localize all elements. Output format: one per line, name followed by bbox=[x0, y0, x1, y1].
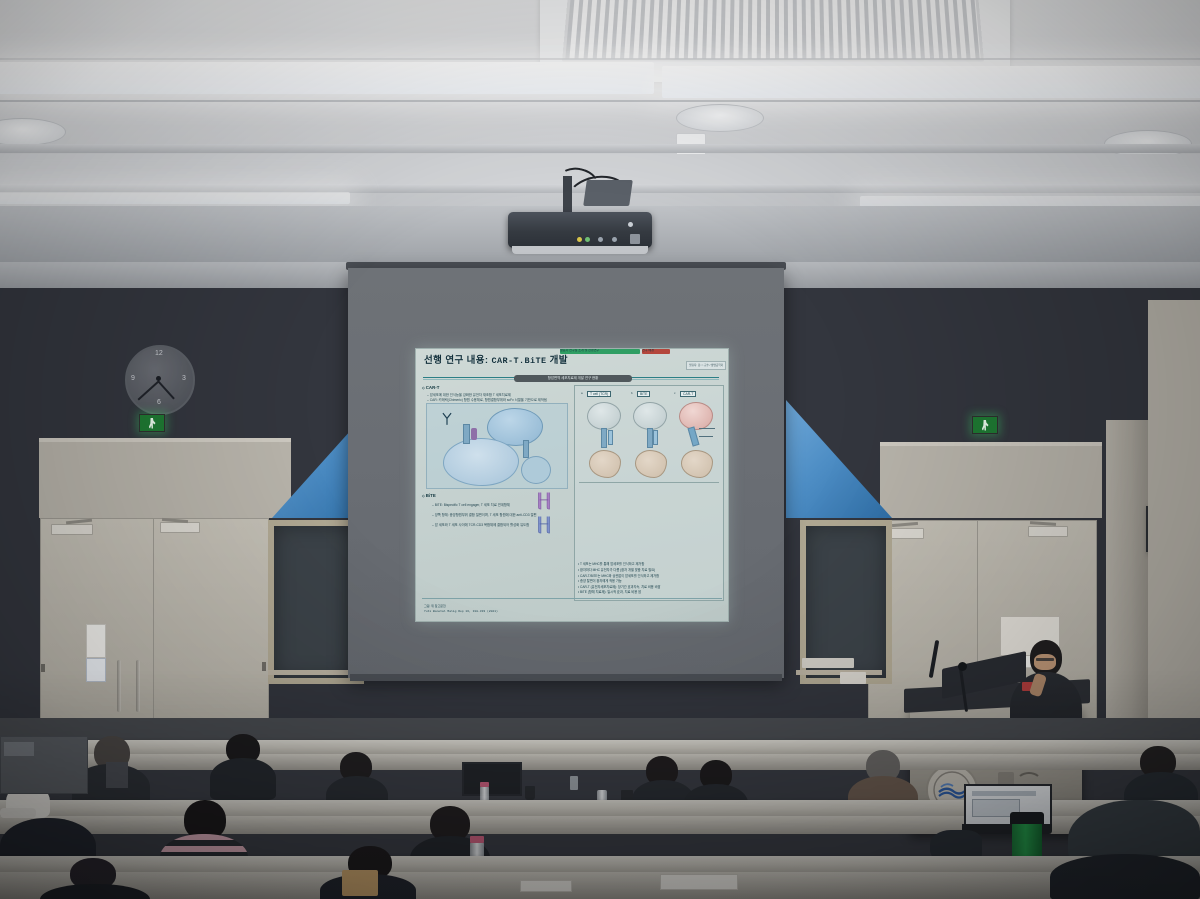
clock-mark-9: 9 bbox=[131, 375, 135, 382]
door-hinge bbox=[262, 662, 266, 671]
panel-label-tcell: T cell (TCR) bbox=[587, 391, 611, 397]
slide-bullet: T 세포는 MHC를 통해 암세포를 인식하고 제거함 bbox=[578, 562, 720, 566]
clock-center bbox=[156, 376, 161, 381]
lanyard bbox=[106, 762, 128, 788]
clock-minute-hand bbox=[138, 380, 160, 400]
desk-front-2 bbox=[0, 872, 1200, 899]
receptor-icon bbox=[463, 424, 470, 444]
projector-indicator-icon bbox=[612, 237, 617, 242]
chalk-box bbox=[802, 658, 854, 668]
panel-cart-diagram bbox=[675, 402, 719, 478]
bite-linker-icon bbox=[653, 430, 658, 445]
seating-riser bbox=[0, 718, 1200, 740]
shoulders bbox=[1050, 854, 1200, 899]
panel-label-bite: BiTE bbox=[637, 391, 650, 397]
slide-right-column: T cell (TCR) BiTE CAR-T a b c bbox=[574, 385, 724, 601]
downlight-left bbox=[0, 118, 66, 146]
laptop-screen bbox=[462, 762, 522, 796]
callout-line bbox=[699, 428, 715, 429]
panel-tcell-diagram bbox=[583, 402, 625, 478]
door-closer bbox=[1028, 526, 1068, 537]
slide-bullet: 종양 탈변이 환자에게 적용 가능 bbox=[578, 579, 720, 583]
slide-center-pill: 항암면역 세포치료제 개발 연구 현황 bbox=[514, 375, 632, 382]
slide-section-car-t: ◇ CAR-T bbox=[422, 385, 570, 391]
tumor-cell-icon bbox=[589, 450, 621, 478]
screen-weight-bar bbox=[350, 674, 782, 681]
ceiling-seam bbox=[0, 100, 1200, 102]
car-t-mechanism-diagram bbox=[426, 403, 568, 489]
projector-base bbox=[512, 246, 648, 254]
slide-title-suffix: 개발 bbox=[550, 355, 568, 366]
door-notice-sheet bbox=[86, 624, 106, 658]
strip-light-right bbox=[662, 66, 1200, 98]
microphone-head-icon bbox=[958, 662, 967, 671]
panel-marker-a: a bbox=[581, 392, 583, 396]
slide-title-latin: CAR-T.BiTE bbox=[492, 356, 547, 366]
slide-right-bullets: T 세포는 MHC를 통해 암세포를 인식하고 제거함 환자마다 MHC 유전자… bbox=[578, 562, 720, 596]
laptop-ui-bar bbox=[972, 791, 1036, 796]
antibody-icon bbox=[441, 412, 453, 426]
t-cell-icon bbox=[633, 402, 667, 430]
slide-bullet: CAR-T/BiTE는 MHC와 상관없이 암세포를 인식하고 제거함 bbox=[578, 574, 720, 578]
slide-section-bite-label: BiTE bbox=[426, 493, 436, 498]
slide-footer-rule bbox=[422, 598, 722, 599]
eraser bbox=[840, 672, 866, 684]
desk-item bbox=[342, 870, 378, 896]
lecture-hall-photo: 12 3 6 9 bbox=[0, 0, 1200, 899]
wall-clock: 12 3 6 9 bbox=[125, 345, 195, 415]
clock-hour-hand bbox=[157, 380, 175, 399]
desk-item bbox=[570, 776, 578, 790]
projector-mount bbox=[563, 176, 572, 212]
slide-left-column: ◇ CAR-T 암세포에 대한 인식능을 강화한 유전자 재조합 T 세포치료제… bbox=[422, 385, 570, 599]
ceiling-projector[interactable] bbox=[508, 212, 652, 248]
right-chalk-tray bbox=[796, 670, 882, 675]
slide-bullet: 암 세포와 T 세포 사이에 TCR-CD3 복합체에 결합되어 활성화 유도함 bbox=[432, 523, 529, 527]
receptor-icon bbox=[523, 440, 529, 458]
clock-mark-12: 12 bbox=[155, 350, 163, 357]
slide-body: ◇ CAR-T 암세포에 대한 인식능을 강화한 유전자 재조합 T 세포치료제… bbox=[422, 385, 722, 599]
slide-footer-note: 그림: 위 참고문헌 bbox=[424, 605, 714, 609]
callout-line bbox=[699, 436, 713, 437]
tumor-cell-icon bbox=[681, 450, 713, 478]
slide-footer: 그림: 위 참고문헌 Yuti Bonetal Malig Rep 16, 31… bbox=[424, 605, 714, 616]
left-chalk-tray bbox=[268, 670, 352, 675]
projector-indicator-icon bbox=[585, 237, 590, 242]
desk-cup bbox=[525, 786, 535, 800]
slide-bullet: BiTE: Bispecific T cell engager, T 세포 치료… bbox=[432, 503, 510, 507]
panel-bite-diagram bbox=[629, 402, 671, 478]
strip-light-lower-left bbox=[0, 192, 350, 204]
wall-panel-trim bbox=[880, 442, 1102, 446]
tumor-cell-icon bbox=[635, 450, 667, 478]
slide-bullet: 환자마다 MHC 유전자가 다름 (환자 개별 맞춤 치료 필요) bbox=[578, 568, 720, 572]
bottle-cap bbox=[480, 782, 489, 787]
running-man-icon bbox=[982, 420, 989, 431]
projector-bracket bbox=[583, 180, 633, 206]
cap-brim-icon bbox=[0, 808, 36, 818]
panel-marker-b: b bbox=[631, 392, 633, 396]
desk-paper bbox=[520, 880, 572, 892]
slide-tag-red: 연구 배경 bbox=[642, 349, 670, 354]
slide-bullet: CAR-T (유전자세포치료제): 장기간 효과지속, 치료 비용 비쌈 bbox=[578, 585, 720, 589]
desk-row-4 bbox=[0, 740, 1200, 754]
tumbler-lid bbox=[1010, 812, 1044, 824]
clock-mark-6: 6 bbox=[157, 399, 161, 406]
desk-row-2 bbox=[0, 856, 1200, 872]
slide-title-korean: 선행 연구 내용: bbox=[424, 355, 488, 366]
wall-panel-right bbox=[880, 444, 1102, 518]
slide-footer-citation: Yuti Bonetal Malig Rep 16, 318-333 (2021… bbox=[424, 610, 714, 614]
laptop[interactable] bbox=[458, 762, 522, 798]
wall-panel-trim bbox=[39, 438, 291, 442]
t-cell-icon bbox=[587, 402, 621, 430]
car-t-cell-icon bbox=[679, 402, 713, 430]
shoulders bbox=[40, 884, 150, 899]
bite-antibody-icon bbox=[536, 491, 552, 512]
slide-bullet: 양쪽 항체: 종양항원부위 결합 절편이며, T 세포 항원에 대한 anti-… bbox=[432, 513, 537, 517]
ceiling-rail bbox=[0, 144, 1200, 153]
panel-label-cart: CAR-T bbox=[680, 391, 696, 397]
running-man-icon bbox=[149, 418, 156, 429]
projector-indicator-icon bbox=[577, 237, 582, 242]
wall-panel-left bbox=[39, 440, 291, 518]
downlight-center bbox=[676, 104, 764, 132]
panel-divider bbox=[579, 482, 719, 483]
slide-bullet: BiTE (항체 치료제): 일시적 효과, 치료 비용 쌈 bbox=[578, 590, 720, 594]
cell-illustration bbox=[443, 438, 519, 486]
desk-paper bbox=[660, 874, 738, 890]
door-leaf-right[interactable] bbox=[153, 518, 269, 730]
door-closer bbox=[51, 524, 93, 535]
slide-side-tag: 발표자: 김○○ 교수 / 생명공학과 bbox=[686, 361, 726, 370]
strip-light-left bbox=[0, 62, 654, 94]
exit-sign-left bbox=[139, 414, 165, 432]
side-wall-right bbox=[1148, 300, 1200, 720]
presenter-face bbox=[1034, 654, 1056, 670]
clock-mark-3: 3 bbox=[182, 375, 186, 382]
cd3-icon bbox=[608, 430, 613, 445]
ac-vent bbox=[562, 0, 984, 62]
door-closer bbox=[160, 522, 200, 533]
presenter-glasses-icon bbox=[1036, 658, 1054, 661]
projector-sensor-icon bbox=[628, 222, 633, 227]
audience-member-2 bbox=[210, 734, 276, 796]
equipment-panel bbox=[4, 742, 34, 756]
slide-title: 선행 연구 내용: CAR-T.BiTE 개발 bbox=[424, 355, 568, 367]
slide-bullet: CAR: 키메릭(Chimeric) 항원 수용체로, 항원결합부위와 scFv… bbox=[427, 398, 570, 402]
cell-illustration bbox=[521, 456, 551, 484]
bite-antibody-icon bbox=[536, 515, 552, 536]
exit-sign-right bbox=[972, 416, 998, 434]
desk-front-4 bbox=[0, 754, 1200, 770]
slide-bullet: 암세포에 대한 인식능을 강화한 유전자 재조합 T 세포치료제 bbox=[427, 393, 570, 397]
panel-marker-c: c bbox=[674, 392, 676, 396]
bottle-cap bbox=[470, 836, 484, 843]
wall-pillar bbox=[1106, 420, 1148, 720]
slide-section-car-t-label: CAR-T bbox=[426, 385, 440, 390]
ceiling-seam bbox=[0, 58, 1200, 60]
shoulders bbox=[210, 758, 276, 800]
door-hinge bbox=[41, 664, 45, 672]
projector-button[interactable] bbox=[630, 234, 640, 244]
antigen-icon bbox=[471, 428, 477, 440]
tcr-icon bbox=[601, 428, 607, 448]
audience-member-13 bbox=[1050, 848, 1200, 899]
door-handle[interactable] bbox=[117, 660, 121, 712]
audience-member-12 bbox=[40, 858, 150, 899]
door-info-placard bbox=[86, 658, 106, 682]
projected-slide: 발표자 연구실 소개 및 선행연구 연구 배경 선행 연구 내용: CAR-T.… bbox=[415, 348, 729, 622]
slide-tag-green: 발표자 연구실 소개 및 선행연구 bbox=[560, 349, 640, 354]
slide-section-bite: ◇ BiTE bbox=[422, 493, 436, 499]
door-handle[interactable] bbox=[136, 660, 140, 712]
left-double-door[interactable] bbox=[40, 518, 268, 728]
projector-indicator-icon bbox=[598, 237, 603, 242]
